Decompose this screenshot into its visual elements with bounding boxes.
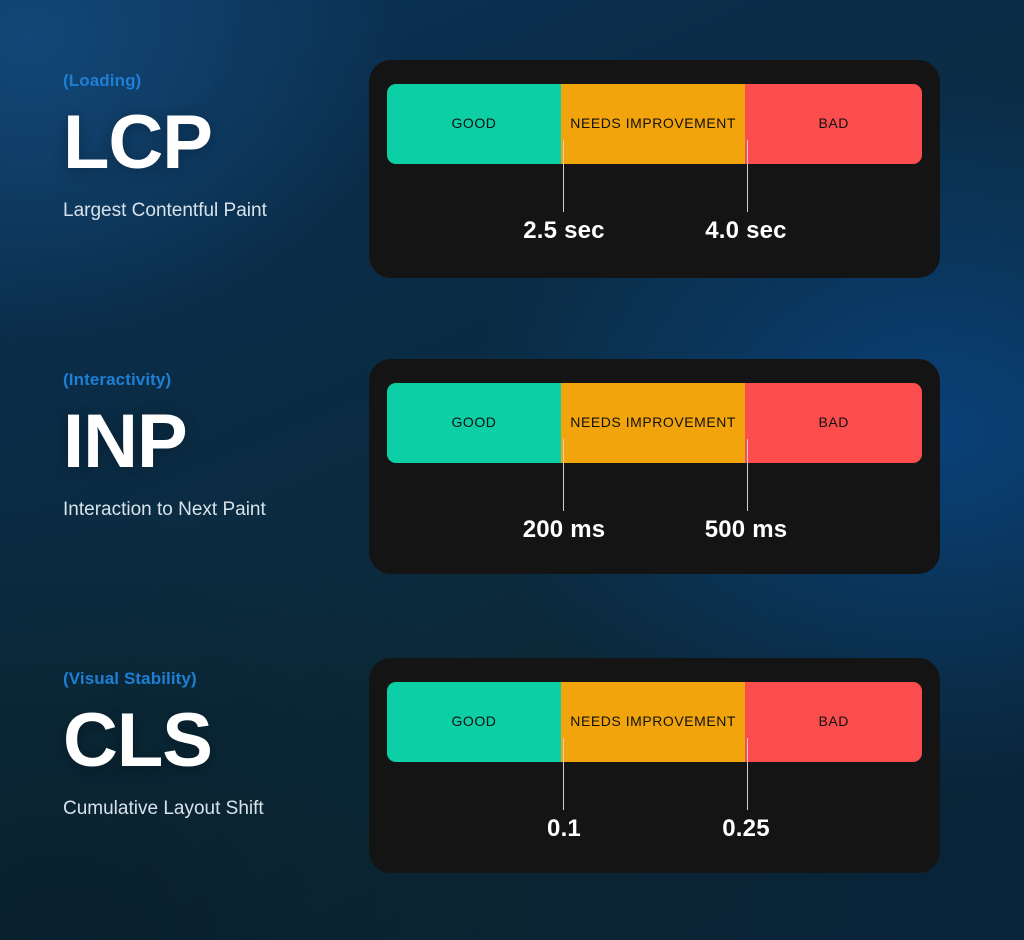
metric-acronym-lcp: LCP — [63, 103, 353, 184]
segment-needs-improvement-cls: NEEDS IMPROVEMENT — [561, 682, 746, 762]
threshold-card-lcp: GOOD NEEDS IMPROVEMENT BAD 2.5 sec 4.0 s… — [369, 60, 940, 278]
threshold-tick-line-1-inp — [563, 439, 564, 511]
segment-good-label-lcp: GOOD — [451, 115, 496, 132]
threshold-label-1-inp: 200 ms — [523, 516, 606, 544]
threshold-tick-line-1-cls — [563, 738, 564, 810]
threshold-label-1-lcp: 2.5 sec — [523, 217, 604, 245]
segment-bad-label-cls: BAD — [818, 713, 848, 730]
metric-category-lcp: (Loading) — [63, 72, 353, 89]
segment-bad-label-lcp: BAD — [818, 115, 848, 132]
threshold-tick-line-2-inp — [747, 439, 748, 511]
threshold-card-cls: GOOD NEEDS IMPROVEMENT BAD 0.1 0.25 — [369, 658, 940, 873]
segment-needs-improvement-lcp: NEEDS IMPROVEMENT — [561, 84, 746, 164]
metric-info-lcp: (Loading) LCP Largest Contentful Paint — [63, 72, 353, 223]
metric-acronym-inp: INP — [63, 402, 353, 483]
segment-good-label-inp: GOOD — [451, 414, 496, 431]
threshold-tick-line-2-lcp — [747, 140, 748, 212]
core-web-vitals-infographic: (Loading) LCP Largest Contentful Paint G… — [0, 0, 1024, 940]
threshold-bar-cls: GOOD NEEDS IMPROVEMENT BAD — [387, 682, 922, 762]
segment-good-cls: GOOD — [387, 682, 561, 762]
segment-needs-improvement-label-lcp: NEEDS IMPROVEMENT — [570, 115, 736, 132]
threshold-bar-inp: GOOD NEEDS IMPROVEMENT BAD — [387, 383, 922, 463]
segment-good-label-cls: GOOD — [451, 713, 496, 730]
segment-needs-improvement-label-cls: NEEDS IMPROVEMENT — [570, 713, 736, 730]
threshold-label-2-inp: 500 ms — [705, 516, 788, 544]
threshold-tick-line-2-cls — [747, 738, 748, 810]
metric-info-inp: (Interactivity) INP Interaction to Next … — [63, 371, 353, 522]
segment-good-inp: GOOD — [387, 383, 561, 463]
threshold-bar-lcp: GOOD NEEDS IMPROVEMENT BAD — [387, 84, 922, 164]
metric-description-inp: Interaction to Next Paint — [63, 497, 278, 522]
metric-description-lcp: Largest Contentful Paint — [63, 198, 278, 223]
threshold-label-2-lcp: 4.0 sec — [705, 217, 786, 245]
segment-bad-label-inp: BAD — [818, 414, 848, 431]
threshold-card-inp: GOOD NEEDS IMPROVEMENT BAD 200 ms 500 ms — [369, 359, 940, 574]
metric-category-cls: (Visual Stability) — [63, 670, 353, 687]
threshold-label-1-cls: 0.1 — [547, 815, 581, 843]
segment-bad-lcp: BAD — [745, 84, 922, 164]
metric-description-cls: Cumulative Layout Shift — [63, 796, 278, 821]
segment-bad-inp: BAD — [745, 383, 922, 463]
metric-acronym-cls: CLS — [63, 701, 353, 782]
segment-bad-cls: BAD — [745, 682, 922, 762]
segment-good-lcp: GOOD — [387, 84, 561, 164]
metric-info-cls: (Visual Stability) CLS Cumulative Layout… — [63, 670, 353, 821]
segment-needs-improvement-inp: NEEDS IMPROVEMENT — [561, 383, 746, 463]
segment-needs-improvement-label-inp: NEEDS IMPROVEMENT — [570, 414, 736, 431]
metric-category-inp: (Interactivity) — [63, 371, 353, 388]
threshold-label-2-cls: 0.25 — [722, 815, 770, 843]
threshold-tick-line-1-lcp — [563, 140, 564, 212]
